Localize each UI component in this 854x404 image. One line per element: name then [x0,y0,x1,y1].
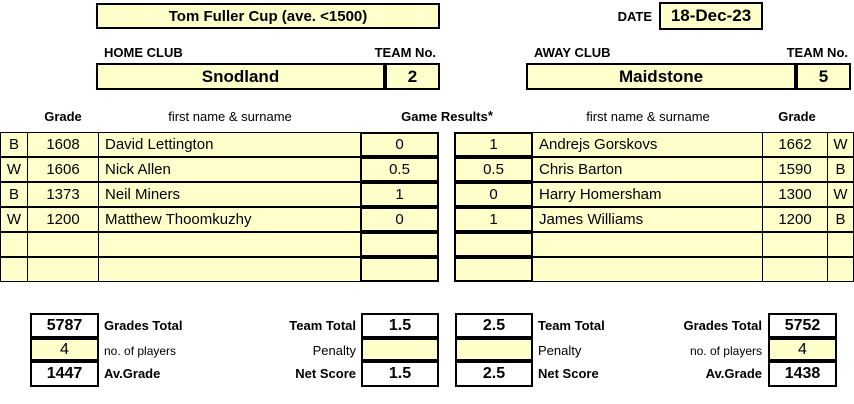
board-result-away[interactable]: 0.5 [454,157,533,182]
home-grades-total-text: 5787 [47,317,83,335]
board-colour-away[interactable]: W [827,132,854,157]
match-scorecard: Tom Fuller Cup (ave. <1500) DATE 18-Dec-… [0,0,854,404]
board-row: W1606Nick Allen0.50.5Chris Barton1590B [0,157,854,182]
home-grades-total-box[interactable]: 5787 [30,313,99,338]
board-result-away[interactable]: 1 [454,207,533,232]
board-result-home[interactable]: 0 [360,132,439,157]
away-grades-total-text: 5752 [785,317,821,335]
board-grade-home[interactable] [27,232,99,257]
away-av-grade-text: 1438 [785,365,821,383]
home-penalty-label: Penalty [240,338,356,363]
board-colour-home[interactable]: B [0,182,28,207]
board-name-away[interactable]: Harry Homersham [532,182,763,207]
board-colour-home[interactable]: W [0,207,28,232]
home-no-of-players-label: no. of players [104,338,244,363]
board-result-away[interactable] [454,257,533,282]
board-colour-home[interactable]: W [0,157,28,182]
home-team-no-box[interactable]: 2 [385,63,440,90]
game-results-text: Game Results [401,109,488,124]
board-name-away[interactable]: James Williams [532,207,763,232]
board-name-away[interactable] [532,232,763,257]
away-team-total-box[interactable]: 2.5 [455,313,533,338]
board-grade-away[interactable]: 1200 [762,207,828,232]
board-result-home[interactable] [360,257,439,282]
home-club-name-box[interactable]: Snodland [96,63,385,90]
home-av-grade-box[interactable]: 1447 [30,361,99,387]
board-row [0,232,854,257]
board-colour-away[interactable] [827,232,854,257]
away-team-no-caption: TEAM No. [752,43,848,61]
column-header-name-home: first name & surname [100,106,360,126]
board-row: W1200Matthew Thoomkuzhy01James Williams1… [0,207,854,232]
board-list: B1608David Lettington01Andrejs Gorskovs1… [0,132,854,282]
away-grades-total-label: Grades Total [640,313,762,338]
board-name-away[interactable] [532,257,763,282]
home-grades-total-label: Grades Total [104,313,244,338]
away-net-score-text: 2.5 [483,365,505,383]
board-grade-home[interactable]: 1606 [27,157,99,182]
board-grade-home[interactable]: 1608 [27,132,99,157]
home-team-total-box[interactable]: 1.5 [361,313,439,338]
board-result-away[interactable] [454,232,533,257]
home-no-of-players-text: 4 [60,341,69,359]
board-colour-away[interactable]: B [827,207,854,232]
away-av-grade-box[interactable]: 1438 [768,361,837,387]
board-name-home[interactable] [98,232,361,257]
home-team-total-label: Team Total [240,313,356,338]
board-result-home[interactable]: 1 [360,182,439,207]
board-name-away[interactable]: Chris Barton [532,157,763,182]
column-header-game-results: Game Results* [361,106,533,126]
board-name-home[interactable]: Neil Miners [98,182,361,207]
date-value-text: 18-Dec-23 [671,6,751,26]
board-row: B1373Neil Miners10Harry Homersham1300W [0,182,854,207]
home-team-total-text: 1.5 [389,317,411,335]
board-row [0,257,854,282]
board-name-home[interactable] [98,257,361,282]
board-grade-away[interactable]: 1590 [762,157,828,182]
board-colour-away[interactable] [827,257,854,282]
date-label: DATE [590,3,652,29]
competition-title-box[interactable]: Tom Fuller Cup (ave. <1500) [96,3,440,29]
board-colour-home[interactable] [0,232,28,257]
board-grade-away[interactable]: 1662 [762,132,828,157]
board-result-away[interactable]: 0 [454,182,533,207]
board-result-home[interactable]: 0.5 [360,157,439,182]
column-header-grade-home: Grade [27,106,99,126]
date-value-box[interactable]: 18-Dec-23 [659,2,763,30]
home-club-name-text: Snodland [202,67,279,87]
board-colour-away[interactable]: B [827,157,854,182]
away-club-name-box[interactable]: Maidstone [526,63,796,90]
board-colour-away[interactable]: W [827,182,854,207]
competition-title-text: Tom Fuller Cup (ave. <1500) [169,8,368,25]
home-net-score-box[interactable]: 1.5 [361,361,439,387]
board-name-away[interactable]: Andrejs Gorskovs [532,132,763,157]
away-no-of-players-text: 4 [798,341,807,359]
home-club-caption: HOME CLUB [104,43,284,61]
away-club-caption: AWAY CLUB [534,43,714,61]
home-team-no-text: 2 [408,67,417,87]
board-result-home[interactable]: 0 [360,207,439,232]
board-grade-away[interactable]: 1300 [762,182,828,207]
home-team-no-caption: TEAM No. [340,43,436,61]
board-grade-home[interactable]: 1200 [27,207,99,232]
board-colour-home[interactable] [0,257,28,282]
away-grades-total-box[interactable]: 5752 [768,313,837,338]
away-team-no-text: 5 [819,67,828,87]
away-team-no-box[interactable]: 5 [796,63,851,90]
away-penalty-box[interactable] [455,338,533,361]
board-result-home[interactable] [360,232,439,257]
board-result-away[interactable]: 1 [454,132,533,157]
board-row: B1608David Lettington01Andrejs Gorskovs1… [0,132,854,157]
away-team-total-text: 2.5 [483,317,505,335]
column-header-name-away: first name & surname [534,106,762,126]
board-grade-home[interactable]: 1373 [27,182,99,207]
board-grade-home[interactable] [27,257,99,282]
board-name-home[interactable]: Nick Allen [98,157,361,182]
column-header-grade-away: Grade [762,106,832,126]
home-net-score-text: 1.5 [389,365,411,383]
board-grade-away[interactable] [762,257,828,282]
board-grade-away[interactable] [762,232,828,257]
board-colour-home[interactable]: B [0,132,28,157]
away-no-of-players-label: no. of players [640,338,762,363]
home-av-grade-text: 1447 [47,365,83,383]
board-name-home[interactable]: David Lettington [98,132,361,157]
away-club-name-text: Maidstone [619,67,703,87]
away-no-of-players-box[interactable]: 4 [768,338,837,361]
home-net-score-label: Net Score [240,361,356,386]
board-name-home[interactable]: Matthew Thoomkuzhy [98,207,361,232]
home-av-grade-label: Av.Grade [104,361,244,386]
away-net-score-box[interactable]: 2.5 [455,361,533,387]
home-no-of-players-box[interactable]: 4 [30,338,99,361]
home-penalty-box[interactable] [361,338,439,361]
away-av-grade-label: Av.Grade [640,361,762,386]
